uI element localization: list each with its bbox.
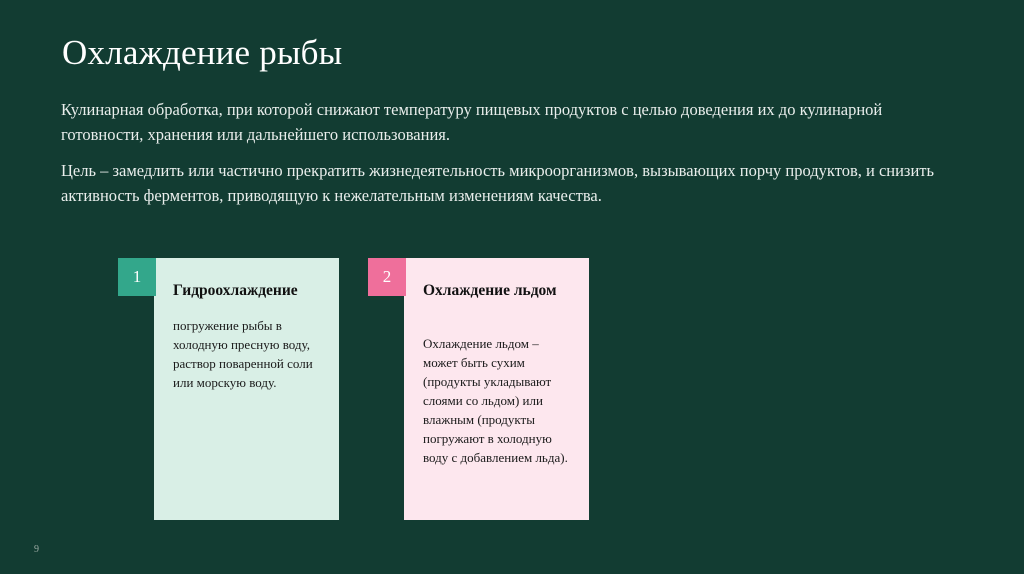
page-title: Охлаждение рыбы (62, 33, 342, 73)
card-ice-cooling: 2 Охлаждение льдом Охлаждение льдом – мо… (404, 258, 589, 520)
intro-paragraph-1: Кулинарная обработка, при которой снижаю… (61, 97, 951, 147)
card-number-badge-1: 1 (118, 258, 156, 296)
page-number: 9 (34, 544, 39, 555)
card-heading-1: Гидроохлаждение (173, 281, 328, 301)
slide: Охлаждение рыбы Кулинарная обработка, пр… (0, 0, 1024, 574)
card-heading-2: Охлаждение льдом (423, 281, 578, 301)
intro-paragraph-2: Цель – замедлить или частично прекратить… (61, 158, 951, 208)
card-body-2: Охлаждение льдом – может быть сухим (про… (423, 334, 573, 467)
card-number-badge-2: 2 (368, 258, 406, 296)
card-body-1: погружение рыбы в холодную пресную воду,… (173, 316, 323, 392)
card-hydrocooling: 1 Гидроохлаждение погружение рыбы в холо… (154, 258, 339, 520)
